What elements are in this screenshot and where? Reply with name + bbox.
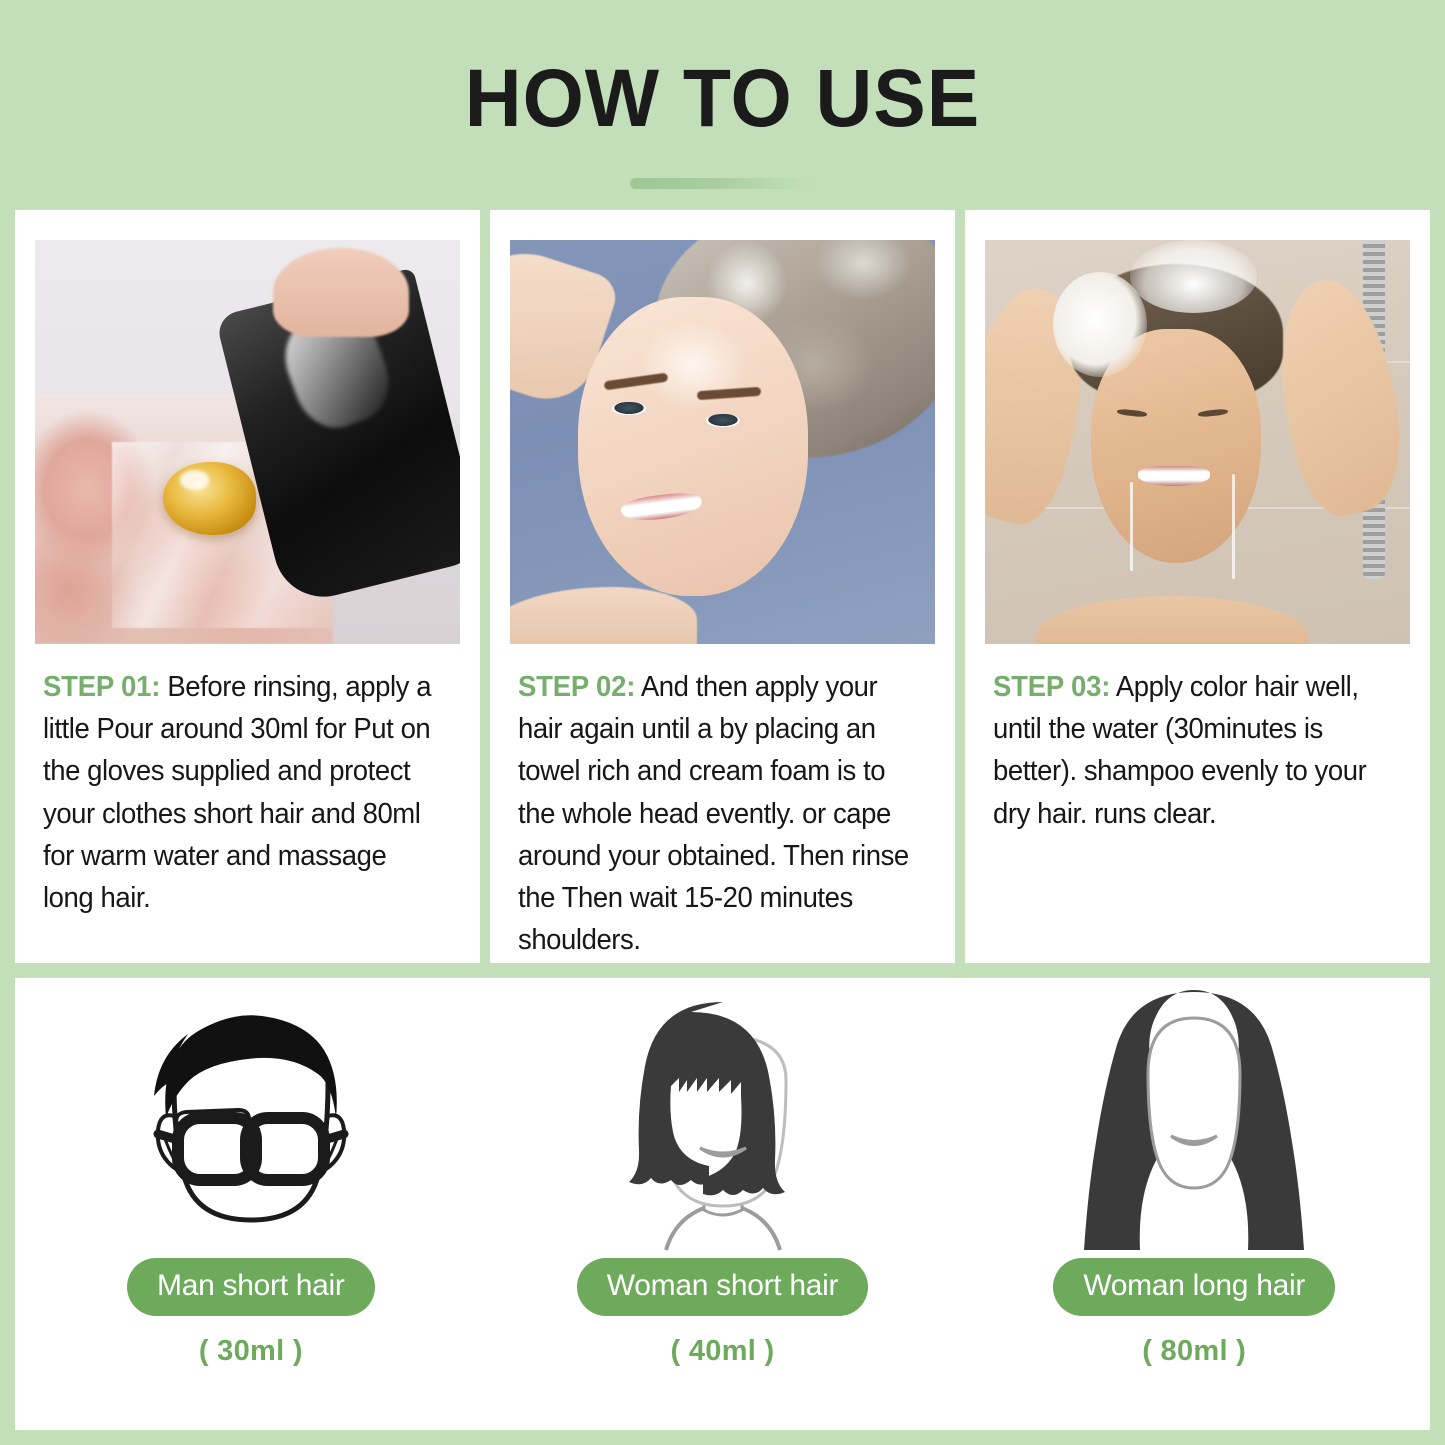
foam-cluster-top <box>1130 240 1258 313</box>
hair-type-amount-woman-long: ( 80ml ) <box>1142 1335 1246 1368</box>
hair-type-amount-man-short: ( 30ml ) <box>199 1335 303 1368</box>
right-arm-shape <box>1256 271 1410 525</box>
step-02-description: And then apply your hair again until a b… <box>518 671 909 956</box>
step-card-02: STEP 02: And then apply your hair again … <box>490 210 955 963</box>
man-short-hair-svg <box>116 988 386 1256</box>
amber-oil-drop <box>163 462 257 535</box>
step-card-03: STEP 03: Apply color hair well, until th… <box>965 210 1430 963</box>
woman-long-hair-icon <box>1059 988 1329 1256</box>
step-03-photo <box>985 240 1410 644</box>
step-card-01: STEP 01: Before rinsing, apply a little … <box>15 210 480 963</box>
header: HOW TO USE <box>0 0 1445 189</box>
woman-short-hair-icon <box>588 988 858 1256</box>
man-short-hair-icon <box>116 988 386 1256</box>
hair-type-label-woman-long[interactable]: Woman long hair <box>1053 1258 1335 1316</box>
steps-row: STEP 01: Before rinsing, apply a little … <box>15 210 1430 963</box>
hair-type-woman-long: Woman long hair ( 80ml ) <box>958 978 1430 1430</box>
shoulder-shape <box>510 587 697 644</box>
fingers-shape <box>273 248 409 337</box>
step-02-label: STEP 02: <box>518 671 635 703</box>
hair-type-amount-woman-short: ( 40ml ) <box>671 1335 775 1368</box>
hair-type-panel: Man short hair ( 30ml ) Woman <box>15 978 1430 1430</box>
water-drip <box>1130 482 1133 571</box>
step-01-label: STEP 01: <box>43 671 160 703</box>
step-02-photo <box>510 240 935 644</box>
step-01-body: STEP 01: Before rinsing, apply a little … <box>35 644 460 919</box>
step-03-label: STEP 03: <box>993 671 1110 703</box>
woman-short-hair-svg <box>588 988 858 1256</box>
hair-type-woman-short: Woman short hair ( 40ml ) <box>487 978 959 1430</box>
woman-long-hair-svg <box>1059 988 1329 1256</box>
page-title: HOW TO USE <box>29 58 1416 140</box>
water-drip <box>1232 474 1235 579</box>
hair-type-label-woman-short[interactable]: Woman short hair <box>577 1258 868 1316</box>
infographic-page: HOW TO USE STEP 01: Before rinsing, appl… <box>0 0 1445 1445</box>
step-03-body: STEP 03: Apply color hair well, until th… <box>985 644 1410 835</box>
step-02-text: STEP 02: And then apply your hair again … <box>518 666 913 961</box>
right-eye <box>706 414 740 428</box>
shoulder-shape <box>1036 596 1308 644</box>
step-01-text: STEP 01: Before rinsing, apply a little … <box>43 666 438 919</box>
step-01-photo <box>35 240 460 644</box>
step-01-description: Before rinsing, apply a little Pour arou… <box>43 671 431 914</box>
step-03-text: STEP 03: Apply color hair well, until th… <box>993 666 1388 835</box>
step-02-body: STEP 02: And then apply your hair again … <box>510 644 935 961</box>
hair-type-label-man-short[interactable]: Man short hair <box>127 1258 375 1316</box>
title-underline-bar <box>630 178 816 189</box>
hair-type-man-short: Man short hair ( 30ml ) <box>15 978 487 1430</box>
